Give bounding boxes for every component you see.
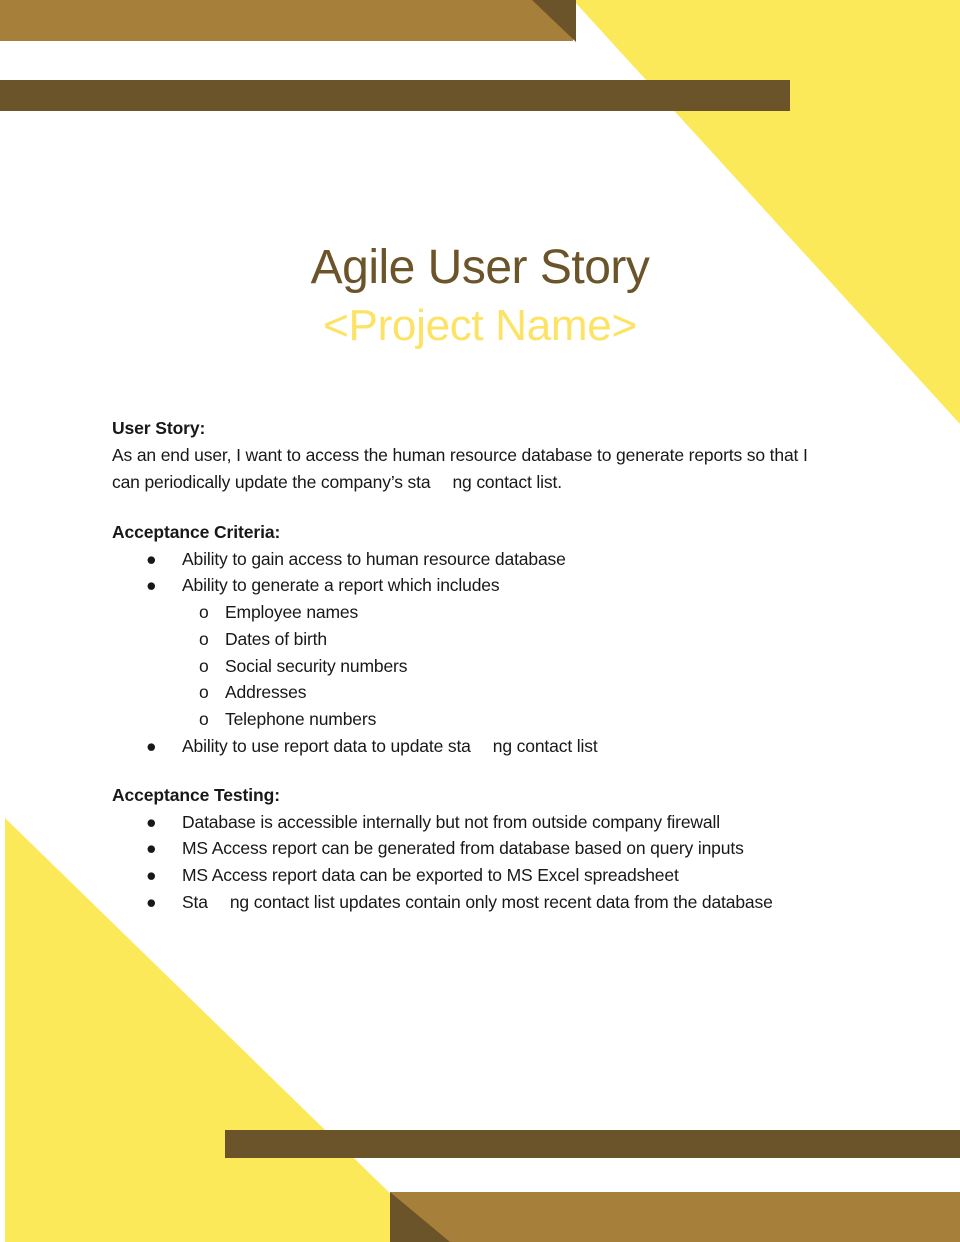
bullet-circle-icon: o <box>199 653 209 680</box>
section-heading-acceptance-criteria: Acceptance Criteria: <box>112 522 852 543</box>
bullet-dot-icon: ● <box>146 835 156 862</box>
yellow-wedge-top-right <box>0 0 960 430</box>
spacer <box>112 760 852 785</box>
list-item-label: Social security numbers <box>225 656 407 676</box>
section-acceptance-criteria: Acceptance Criteria: ● Ability to gain a… <box>112 522 852 760</box>
gold-bar-top <box>0 0 573 41</box>
bullet-dot-icon: ● <box>146 733 156 760</box>
list-item-label-part1: Sta <box>182 892 208 912</box>
bullet-dot-icon: ● <box>146 809 156 836</box>
spacer <box>112 497 852 522</box>
bullet-dot-icon: ● <box>146 572 156 599</box>
report-contents-sublist: o Employee names o Dates of birth o Soci… <box>112 599 852 733</box>
list-item-label: Dates of birth <box>225 629 327 649</box>
section-user-story: User Story: As an end user, I want to ac… <box>112 418 852 497</box>
list-item: ● Database is accessible internally but … <box>112 809 852 836</box>
document-body: User Story: As an end user, I want to ac… <box>112 418 852 916</box>
list-item-label: Ability to gain access to human resource… <box>182 549 566 569</box>
list-item: ● MS Access report can be generated from… <box>112 835 852 862</box>
user-story-text-part2: ng contact list. <box>452 472 561 492</box>
list-item: o Social security numbers <box>112 653 852 680</box>
list-item: ● Stang contact list updates contain onl… <box>112 889 852 916</box>
list-item-label: Addresses <box>225 682 306 702</box>
bullet-circle-icon: o <box>199 599 209 626</box>
title-main-text: Agile User Story <box>0 240 960 297</box>
user-story-paragraph: As an end user, I want to access the hum… <box>112 442 837 497</box>
list-item: o Employee names <box>112 599 852 626</box>
dark-brown-bar-top <box>0 80 790 111</box>
bullet-dot-icon: ● <box>146 862 156 889</box>
list-item-label: MS Access report data can be exported to… <box>182 865 679 885</box>
gold-bar-bottom <box>390 1192 960 1242</box>
list-item: o Addresses <box>112 679 852 706</box>
list-item: ● MS Access report data can be exported … <box>112 862 852 889</box>
list-item: ● Ability to generate a report which inc… <box>112 572 852 599</box>
list-item-label-part2: ng contact list updates contain only mos… <box>230 892 773 912</box>
acceptance-criteria-list: ● Ability to gain access to human resour… <box>112 546 852 760</box>
list-item-label: MS Access report can be generated from d… <box>182 838 744 858</box>
list-item-label-part2: ng contact list <box>493 736 598 756</box>
acceptance-testing-list: ● Database is accessible internally but … <box>112 809 852 916</box>
list-item-label-part1: Ability to use report data to update sta <box>182 736 471 756</box>
list-item: o Telephone numbers <box>112 706 852 733</box>
section-heading-acceptance-testing: Acceptance Testing: <box>112 785 852 806</box>
page-title: Agile User Story <Project Name> <box>0 240 960 352</box>
bullet-circle-icon: o <box>199 626 209 653</box>
list-item-label: Ability to generate a report which inclu… <box>182 575 499 595</box>
list-item: o Dates of birth <box>112 626 852 653</box>
list-item-label: Employee names <box>225 602 358 622</box>
list-item: ● Ability to use report data to update s… <box>112 733 852 760</box>
list-item-label: Database is accessible internally but no… <box>182 812 720 832</box>
dark-brown-bar-bottom <box>225 1130 960 1158</box>
sublist-container: o Employee names o Dates of birth o Soci… <box>112 599 852 733</box>
bullet-circle-icon: o <box>199 706 209 733</box>
section-acceptance-testing: Acceptance Testing: ● Database is access… <box>112 785 852 916</box>
bullet-dot-icon: ● <box>146 546 156 573</box>
bullet-dot-icon: ● <box>146 889 156 916</box>
list-item-label: Telephone numbers <box>225 709 376 729</box>
bullet-circle-icon: o <box>199 679 209 706</box>
title-project-name-placeholder: <Project Name> <box>0 299 960 353</box>
section-heading-user-story: User Story: <box>112 418 852 439</box>
document-page: Agile User Story <Project Name> User Sto… <box>0 0 960 1242</box>
list-item: ● Ability to gain access to human resour… <box>112 546 852 573</box>
